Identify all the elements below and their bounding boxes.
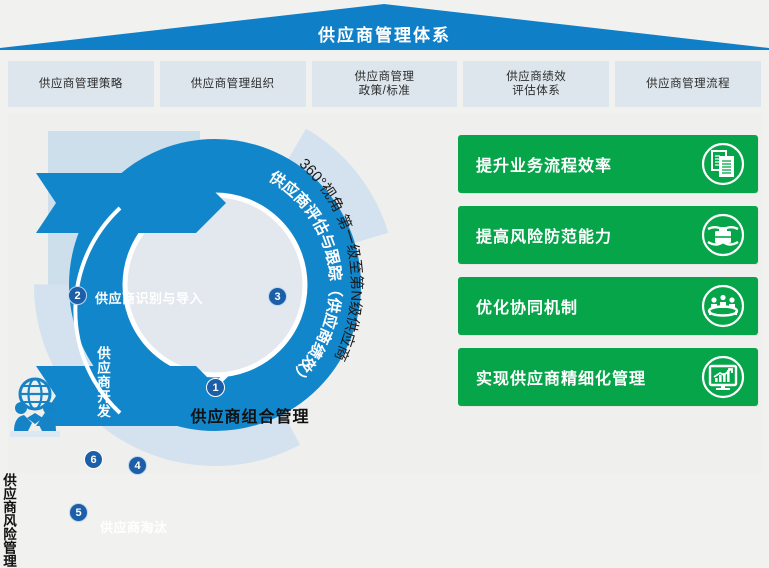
badge-3: 3: [268, 287, 287, 306]
pillar-row: 供应商管理策略 供应商管理组织 供应商管理 政策/标准 供应商绩效 评估体系 供…: [8, 61, 761, 107]
badge-6: 6: [84, 450, 103, 469]
benefit-risk-prevention-label: 提高风险防范能力: [476, 223, 612, 247]
step-5-label: 供应商淘汰: [100, 517, 168, 536]
center-circle-label: 供应商组合管理: [150, 403, 350, 427]
pillar-organization[interactable]: 供应商管理组织: [160, 61, 306, 107]
benefit-risk-prevention[interactable]: 提高风险防范能力: [458, 206, 758, 264]
badge-1: 1: [206, 378, 225, 397]
pillar-performance-line1: 供应商绩效: [506, 71, 566, 83]
benefit-refined-management[interactable]: 实现供应商精细化管理: [458, 348, 758, 406]
pillar-policy-line1: 供应商管理: [354, 71, 414, 83]
pillar-performance-evaluation[interactable]: 供应商绩效 评估体系: [463, 61, 609, 107]
benefits-list: 提升业务流程效率: [458, 135, 758, 419]
benefit-collaboration[interactable]: 优化协同机制: [458, 277, 758, 335]
benefit-refined-management-label: 实现供应商精细化管理: [476, 365, 646, 389]
benefit-process-efficiency[interactable]: 提升业务流程效率: [458, 135, 758, 193]
pillar-process[interactable]: 供应商管理流程: [615, 61, 761, 107]
pillar-policy-line2: 政策/标准: [359, 85, 411, 97]
meeting-table-icon: [700, 283, 746, 329]
benefit-collaboration-label: 优化协同机制: [476, 294, 578, 318]
chevron-step-2[interactable]: [36, 173, 226, 233]
pillar-process-label: 供应商管理流程: [646, 77, 730, 91]
step-6-label: 供应商风险管理: [0, 473, 17, 568]
pillar-strategy-label: 供应商管理策略: [39, 77, 123, 91]
roof-banner: 供应商管理体系: [0, 4, 769, 50]
monitor-chart-icon: [700, 354, 746, 400]
page-title: 供应商管理体系: [0, 26, 769, 45]
badge-5: 5: [69, 503, 88, 522]
diagram-canvas: 供应商管理体系 供应商管理策略 供应商管理组织 供应商管理 政策/标准 供应商绩…: [0, 0, 769, 481]
globe-handshake-icon: [8, 375, 62, 437]
badge-2: 2: [68, 286, 87, 305]
benefit-process-efficiency-label: 提升业务流程效率: [476, 152, 612, 176]
supplier-lifecycle-diagram: 供应商评估与跟踪（供应商绩效） 360°视角 第一级至第N级供应商 供应商识别与…: [0, 113, 450, 473]
briefcase-shield-icon: [700, 212, 746, 258]
pillar-organization-label: 供应商管理组织: [191, 77, 275, 91]
badge-4: 4: [128, 456, 147, 475]
pillar-strategy[interactable]: 供应商管理策略: [8, 61, 154, 107]
pillar-performance-line2: 评估体系: [512, 85, 560, 97]
pillar-policy-standard[interactable]: 供应商管理 政策/标准: [312, 61, 458, 107]
documents-icon: [700, 141, 746, 187]
